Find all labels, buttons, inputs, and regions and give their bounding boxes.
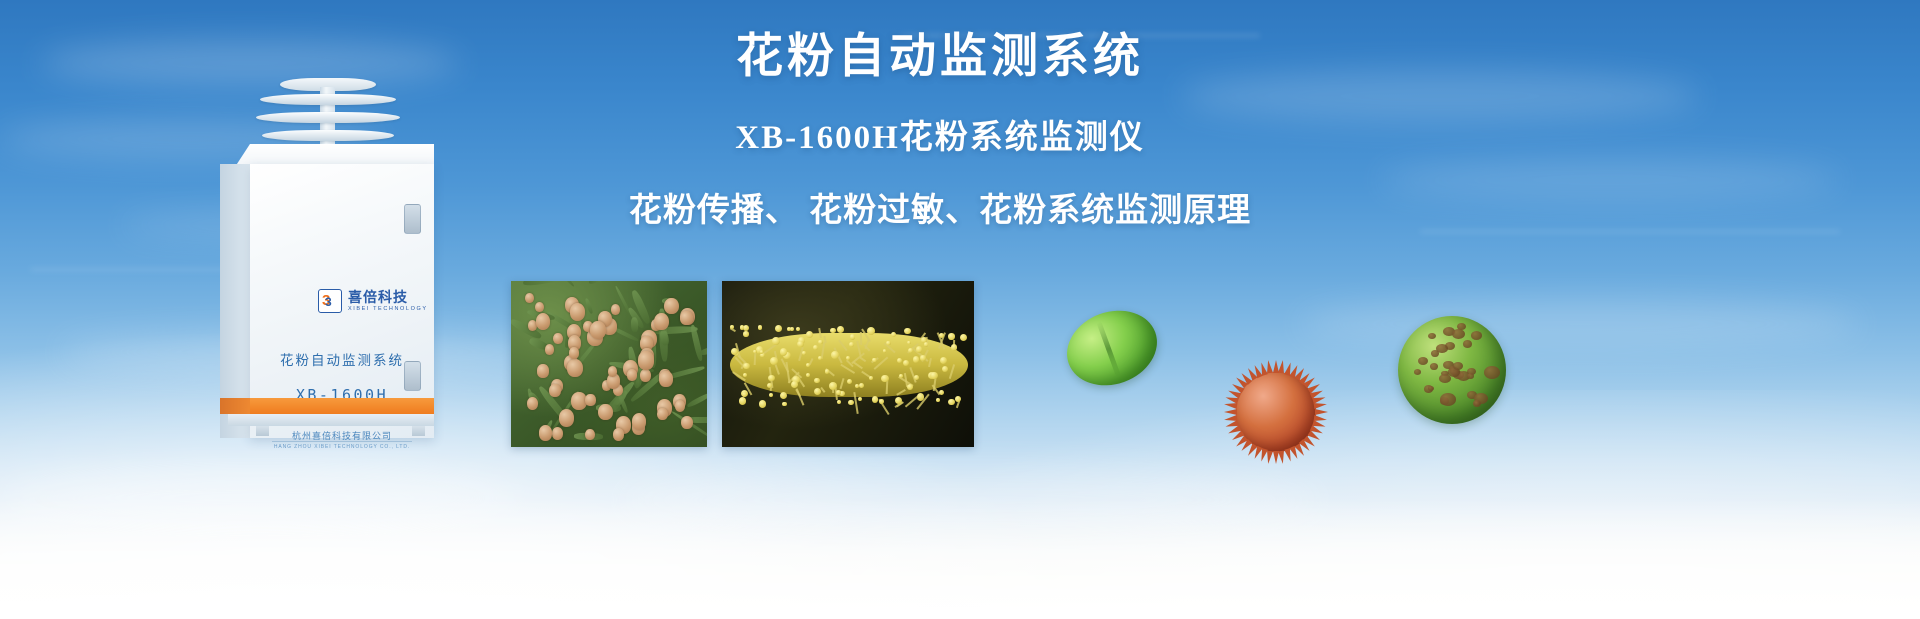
catkin-anther — [849, 342, 854, 347]
catkin-anther — [936, 398, 940, 402]
cypress-cone — [659, 371, 672, 386]
pollen-spine — [1273, 451, 1279, 464]
pollen-monitor-device: 3 3 喜倍科技 XIBEI TECHNOLOGY 花粉自动监测系统 XB-16… — [198, 78, 458, 438]
catkin-anther — [829, 382, 837, 390]
cypress-cone — [664, 298, 679, 315]
catkin-anther — [780, 348, 787, 355]
catkin-anther — [830, 328, 835, 333]
cypress-cones-photo — [511, 281, 707, 447]
device-company-cn: 杭州喜倍科技有限公司 — [250, 429, 434, 442]
device-latch-lower — [404, 361, 421, 391]
cypress-cone — [680, 311, 692, 325]
brand-name-cn: 喜倍科技 — [348, 290, 428, 304]
device-inlet-disc — [256, 112, 400, 123]
device-foot — [412, 426, 425, 436]
pollen-wart — [1414, 369, 1421, 375]
device-foot — [256, 426, 269, 436]
catkin-anther — [837, 400, 841, 404]
catkin-anther — [772, 337, 780, 345]
cypress-cone — [640, 369, 651, 382]
device-inlet-disc — [262, 130, 394, 141]
cypress-cone — [613, 428, 624, 441]
device-side-panel — [220, 164, 252, 438]
xibei-logo-icon: 3 3 — [318, 289, 342, 313]
cypress-cone — [608, 366, 617, 377]
catkin-anther — [742, 392, 747, 397]
catkin-anther — [767, 383, 772, 388]
pollen-spine — [1224, 415, 1238, 423]
catkin-anther — [913, 356, 920, 363]
brand-name-en: XIBEI TECHNOLOGY — [348, 307, 428, 313]
device-accent-stripe — [250, 398, 434, 414]
cypress-cone — [638, 351, 654, 369]
catkin-anther — [855, 384, 859, 388]
logo-swoosh-blue: 3 — [325, 295, 332, 309]
cypress-cone — [598, 404, 613, 421]
cloud-wisp — [0, 470, 520, 526]
cypress-cone — [585, 429, 595, 440]
catkin-anther — [740, 325, 744, 329]
catkin-anther — [872, 396, 879, 403]
banner-model-line: XB-1600H花粉系统监测仪 — [560, 110, 1320, 158]
pollen-grain-spiky — [1222, 358, 1330, 466]
pollen-wart — [1471, 331, 1482, 340]
catkin-anther — [775, 325, 782, 332]
catkin-anther — [939, 390, 944, 395]
catkin-anther — [743, 373, 747, 377]
catkin-anther — [848, 400, 854, 406]
pollen-wart — [1436, 344, 1448, 353]
pollen-wart — [1428, 333, 1436, 340]
cypress-cone — [585, 394, 595, 406]
catkin-anther — [780, 392, 787, 399]
catkin-anther — [836, 390, 841, 395]
cypress-cone — [569, 347, 579, 358]
cypress-cone — [654, 313, 669, 330]
cypress-cone — [549, 384, 560, 397]
catkin-anther — [879, 399, 884, 404]
catkin-anther — [955, 396, 961, 402]
cypress-cone — [627, 369, 637, 380]
pollen-wart — [1463, 340, 1472, 347]
device-base — [228, 414, 434, 426]
banner-topics-line: 花粉传播、 花粉过敏、花粉系统监测原理 — [560, 183, 1320, 231]
catkin-anther — [730, 325, 734, 329]
catkin-anther — [837, 326, 844, 333]
cloud-wisp — [1380, 160, 1840, 200]
banner-headline: 花粉自动监测系统 — [560, 28, 1320, 83]
cypress-cone — [567, 359, 583, 377]
catkin-anther — [743, 363, 749, 369]
cloud-wisp — [620, 470, 1320, 530]
catkin-anther — [960, 334, 967, 341]
device-latch-upper — [404, 204, 421, 234]
pollen-wart — [1453, 362, 1463, 370]
pollen-wart — [1428, 386, 1434, 391]
catkin-anther — [797, 341, 804, 348]
device-company-en: HANG ZHOU XIBEI TECHNOLOGY CO., LTD. — [250, 444, 434, 450]
device-inlet-disc — [260, 94, 396, 105]
cypress-cone — [559, 409, 574, 427]
cypress-cone — [657, 408, 668, 420]
catkin-anther — [924, 342, 928, 346]
catkin-anther — [914, 375, 919, 380]
catkin-anther — [759, 400, 766, 407]
catkin-anther — [814, 378, 820, 384]
cypress-cone — [675, 400, 685, 412]
cypress-cone — [535, 302, 544, 312]
cypress-cone — [570, 303, 586, 321]
catkin-anther — [831, 351, 839, 359]
pollen-grain-warty — [1398, 316, 1506, 424]
cypress-cone — [539, 425, 552, 440]
cypress-cone — [681, 416, 693, 430]
catkin-anther — [907, 384, 913, 390]
catkin-anther — [951, 344, 957, 350]
pollen-monitoring-banner: 3 3 喜倍科技 XIBEI TECHNOLOGY 花粉自动监测系统 XB-16… — [0, 0, 1920, 619]
catkin-anther — [731, 348, 738, 355]
pollen-wart — [1452, 329, 1465, 340]
cloud-wisp — [1300, 300, 1860, 348]
catkin-anther — [846, 356, 850, 360]
pollen-wart — [1418, 357, 1428, 365]
pollen-wart — [1430, 363, 1438, 370]
catkin-anther — [899, 374, 903, 378]
pollen-wart — [1484, 366, 1499, 378]
cypress-cone — [527, 397, 538, 410]
catkin-anther — [743, 331, 748, 336]
pollen-wart — [1440, 393, 1456, 406]
catkin-anther — [867, 327, 875, 335]
cypress-cone — [525, 293, 534, 303]
cypress-cone — [611, 304, 620, 315]
catkin-anther — [739, 397, 746, 404]
catkin-anther — [903, 360, 909, 366]
catkin-anther — [770, 357, 778, 365]
cypress-cone — [537, 364, 548, 377]
catkin-anther — [872, 358, 876, 362]
device-brand-logo: 3 3 喜倍科技 XIBEI TECHNOLOGY — [318, 289, 428, 313]
cypress-cone — [632, 413, 646, 430]
pollen-wart — [1467, 373, 1474, 378]
catkin-anther — [858, 397, 862, 401]
catkin-anther — [930, 372, 938, 380]
catkin-anther — [904, 328, 910, 334]
banner-text-block: 花粉自动监测系统 XB-1600H花粉系统监测仪 花粉传播、 花粉过敏、花粉系统… — [560, 28, 1320, 231]
pollen-spine — [1315, 409, 1328, 415]
catkin-pollen-photo — [722, 281, 974, 447]
device-accent-stripe-side — [220, 398, 252, 414]
catkin-anther — [847, 379, 852, 384]
catkin-anther — [920, 355, 925, 360]
cloud-streak — [1420, 230, 1840, 233]
foliage-sprig — [631, 317, 639, 332]
catkin-anther — [758, 325, 762, 329]
catkin-anther — [916, 346, 922, 352]
catkin-anther — [768, 375, 775, 382]
catkin-anther — [791, 381, 798, 388]
catkin-anther — [948, 333, 954, 339]
cypress-cone — [536, 313, 551, 330]
pollen-spine — [1224, 409, 1237, 415]
catkin-anther — [802, 351, 806, 355]
cypress-cone — [590, 321, 606, 339]
